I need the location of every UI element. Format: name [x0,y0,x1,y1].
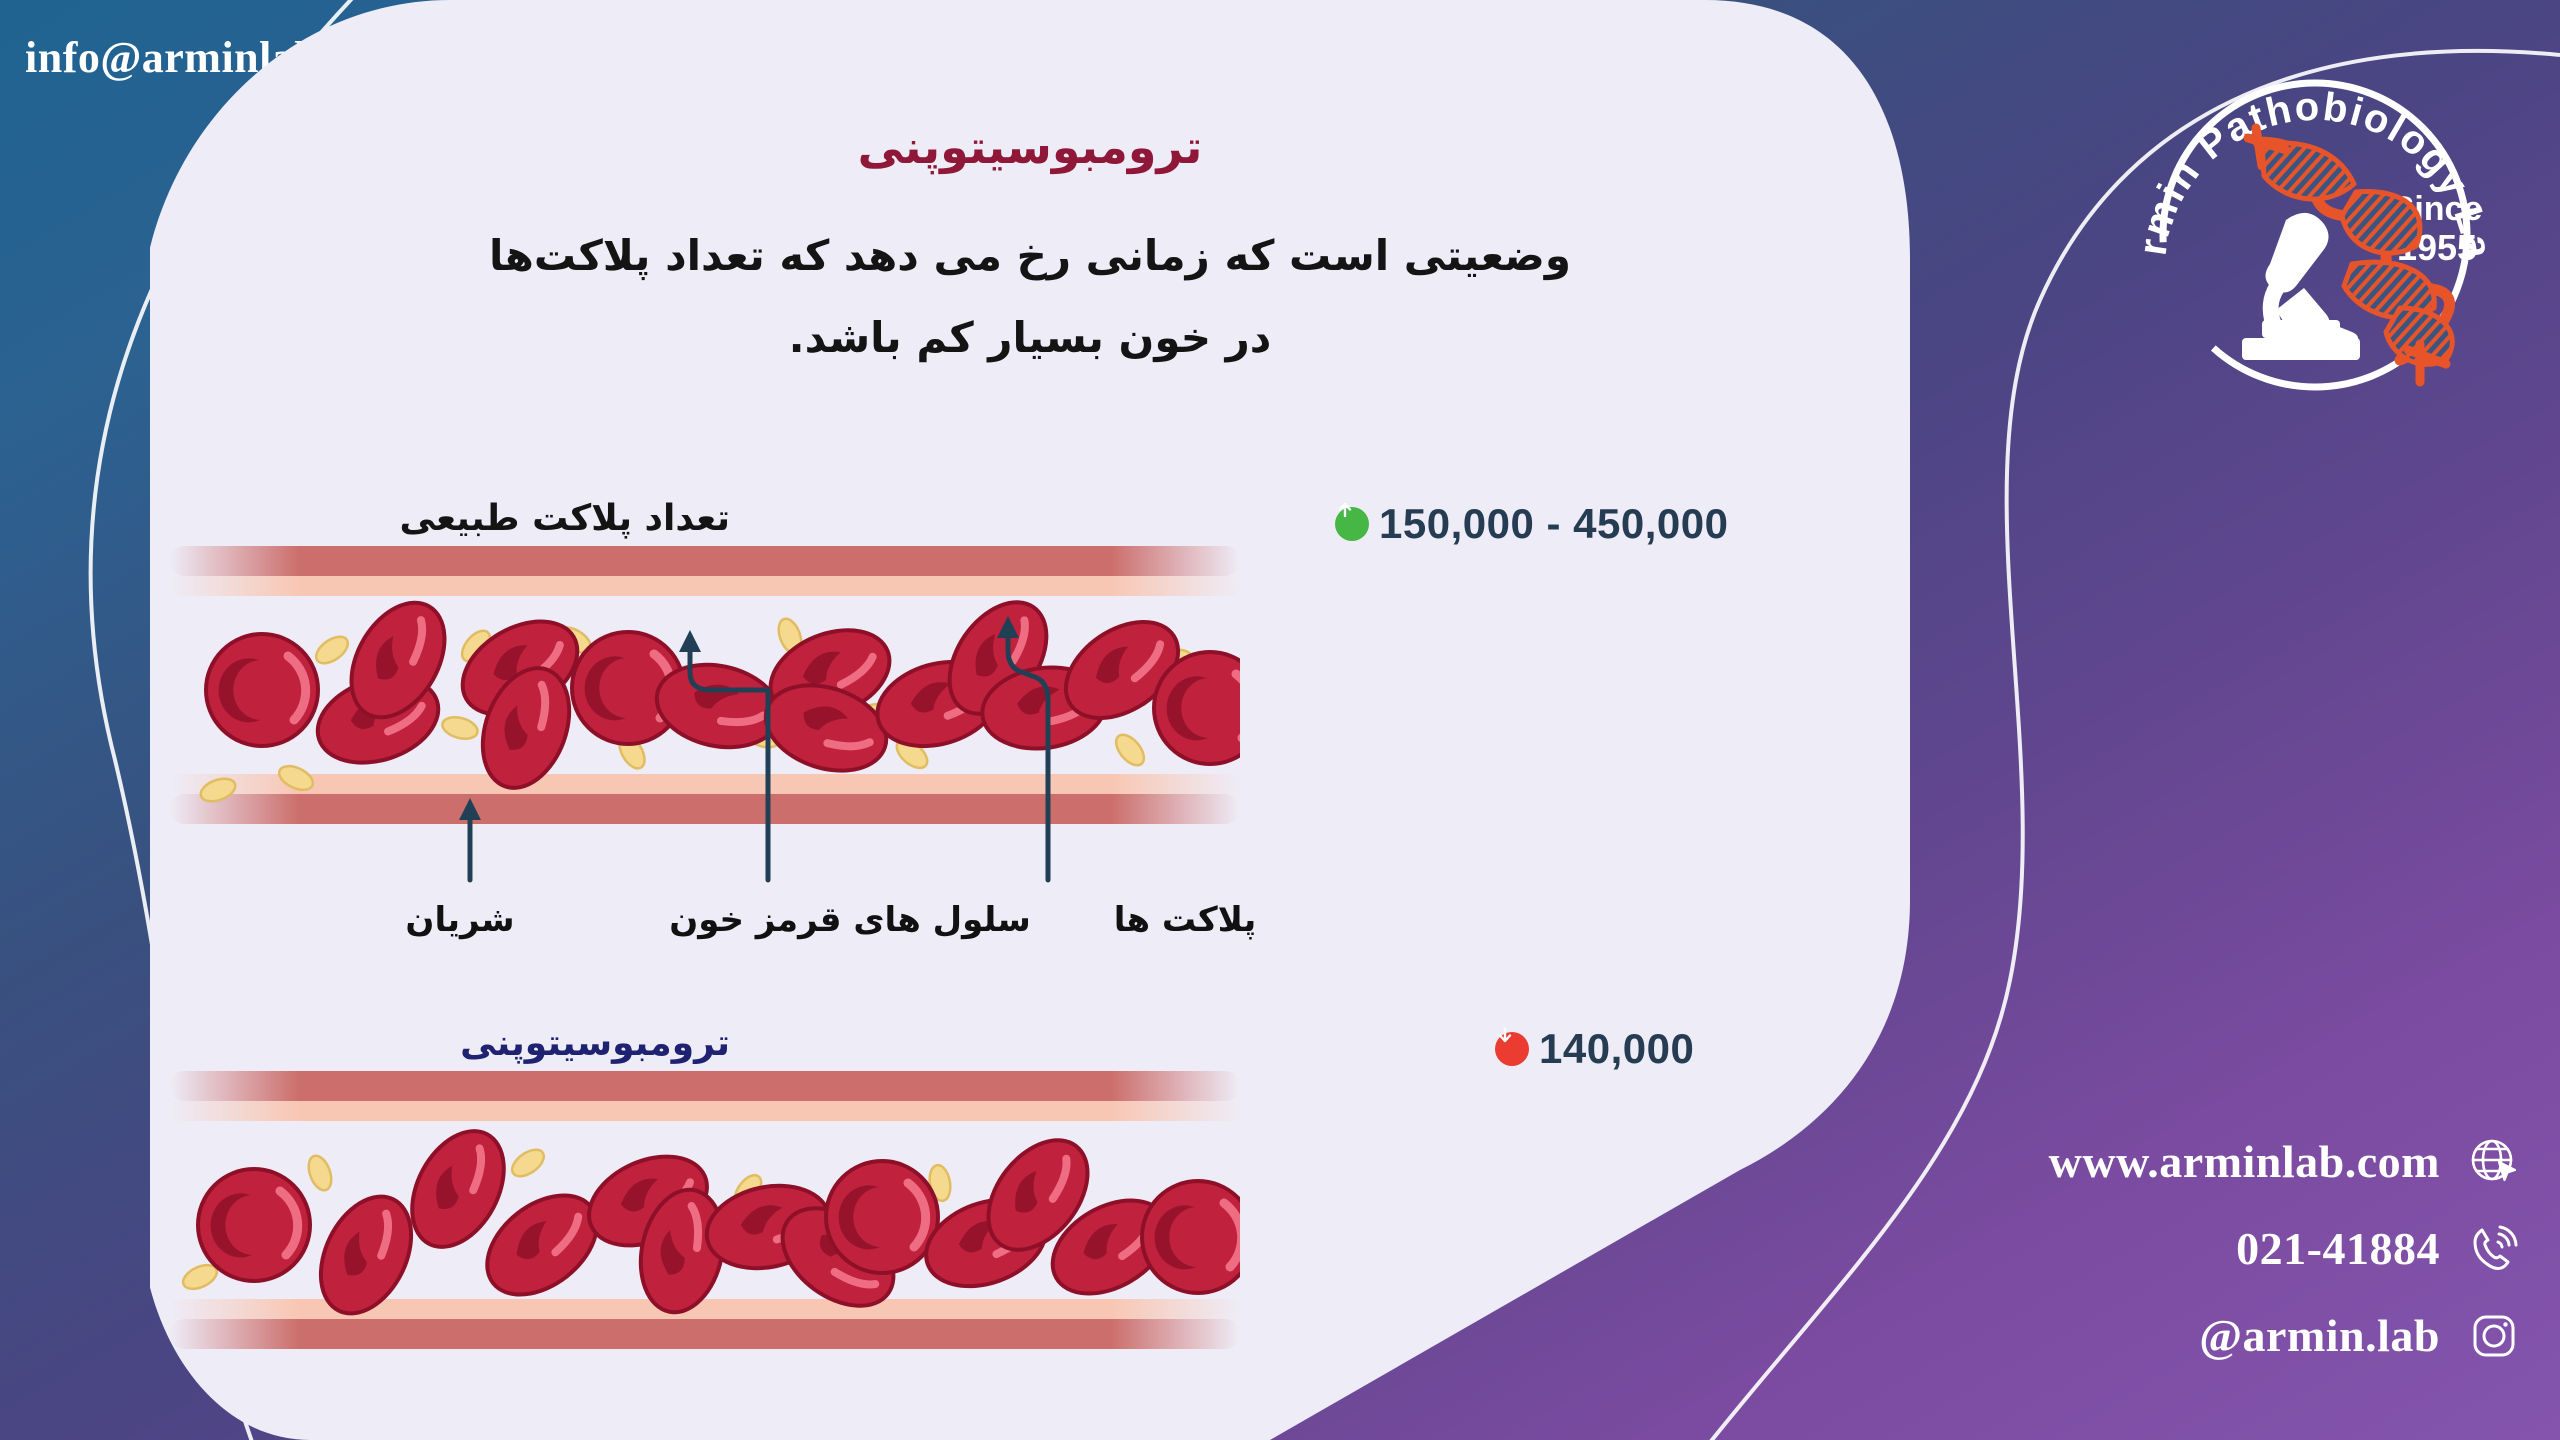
globe-cursor-icon [2468,1136,2520,1188]
page-description: وضعیتی است که زمانی رخ می دهد که تعداد پ… [280,215,1780,379]
platelet-count-low: 140,000 [1539,1025,1694,1073]
status-badge-low: 140,000 [1495,1025,1694,1073]
description-line-1: وضعیتی است که زمانی رخ می دهد که تعداد پ… [280,215,1780,297]
annotation-platelets: پلاکت ها [1020,900,1350,940]
description-line-2: در خون بسیار کم باشد. [280,297,1780,379]
instagram-handle[interactable]: @armin.lab [2199,1309,2440,1362]
arrow-down-icon [1495,1032,1529,1066]
arrow-up-icon [1335,507,1369,541]
annotation-artery: شریان [300,900,620,940]
contact-row-phone[interactable]: 021-41884 [1880,1222,2520,1275]
phone-number[interactable]: 021-41884 [2236,1222,2440,1275]
page-title: ترومبوسیتوپنی [480,120,1580,174]
contact-row-instagram[interactable]: @armin.lab [1880,1309,2520,1362]
blood-vessel-normal [170,540,1240,840]
instagram-icon [2468,1310,2520,1362]
platelet-count-normal: 150,000 - 450,000 [1379,500,1728,548]
contact-block: www.arminlab.com 021-41884 @armin.lab [1880,1135,2520,1362]
website-url[interactable]: www.arminlab.com [2049,1135,2440,1188]
company-logo: Armin Pathobiology Lab Since 1955 [2090,20,2510,440]
section-label-thrombocytopenia: ترومبوسیتوپنی [150,1023,730,1064]
status-badge-normal: 150,000 - 450,000 [1335,500,1728,548]
contact-row-website[interactable]: www.arminlab.com [1880,1135,2520,1188]
blood-vessel-thrombocytopenia [170,1065,1240,1365]
section-label-normal: تعداد پلاکت طبیعی [150,498,730,539]
content-panel: ترومبوسیتوپنی وضعیتی است که زمانی رخ می … [150,0,1910,1440]
phone-icon [2468,1223,2520,1275]
